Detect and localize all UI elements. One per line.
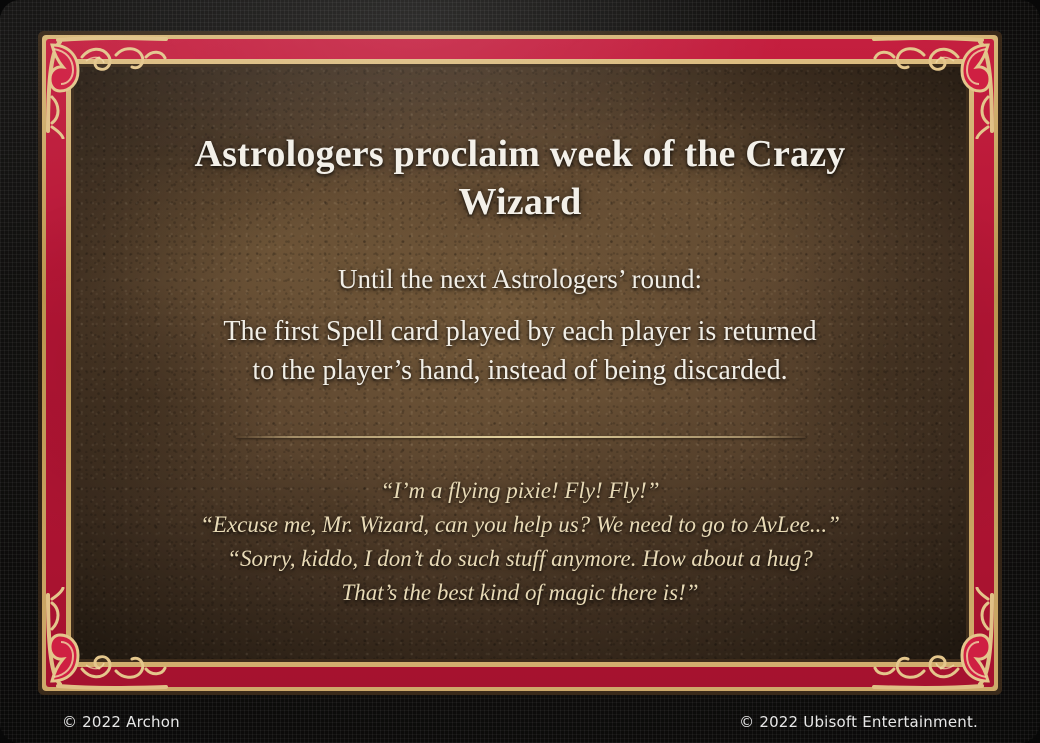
card-title: Astrologers proclaim week of the Crazy W… [170, 130, 870, 227]
flavor-line-4: That’s the best kind of magic there is!” [70, 576, 970, 610]
game-card[interactable]: Astrologers proclaim week of the Crazy W… [0, 0, 1040, 743]
card-flavor-text: “I’m a flying pixie! Fly! Fly!” “Excuse … [70, 474, 970, 610]
rules-body-line-2: to the player’s hand, instead of being d… [70, 352, 970, 390]
card-content: Astrologers proclaim week of the Crazy W… [0, 0, 1040, 743]
flavor-line-1: “I’m a flying pixie! Fly! Fly!” [70, 474, 970, 508]
copyright-right: © 2022 Ubisoft Entertainment. [739, 713, 978, 731]
rules-lead-line: Until the next Astrologers’ round: [70, 261, 970, 297]
card-rules-text: Until the next Astrologers’ round: The f… [70, 261, 970, 390]
card-divider [236, 436, 806, 438]
rules-body-line-1: The first Spell card played by each play… [70, 313, 970, 351]
flavor-line-2: “Excuse me, Mr. Wizard, can you help us?… [70, 508, 970, 542]
copyright-left: © 2022 Archon [62, 713, 180, 731]
flavor-line-3: “Sorry, kiddo, I don’t do such stuff any… [70, 542, 970, 576]
